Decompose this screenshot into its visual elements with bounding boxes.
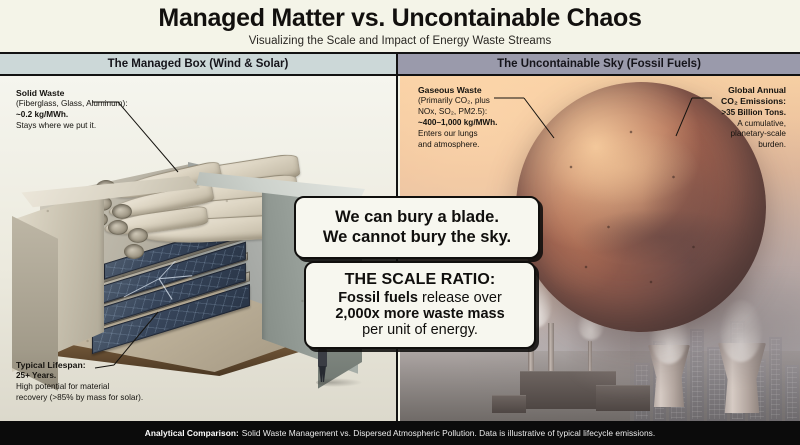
quote-line-2: We cannot bury the sky. [306, 227, 528, 247]
header-right-uncontainable-sky: The Uncontainable Sky (Fossil Fuels) [398, 54, 800, 74]
annotation-gaseous-waste: Gaseous Waste (Primarily CO₂, plus NOx, … [418, 85, 578, 150]
figure-legs [319, 366, 326, 382]
ratio-line-2-bold: Fossil fuels [338, 290, 418, 306]
callout-quote: We can bury a blade. We cannot bury the … [294, 196, 540, 259]
ratio-title: THE SCALE RATIO: [316, 271, 524, 289]
footer-text: Solid Waste Management vs. Dispersed Atm… [242, 428, 655, 438]
header-left-managed-box: The Managed Box (Wind & Solar) [0, 54, 398, 74]
footer-bar: Analytical Comparison: Solid Waste Manag… [0, 421, 800, 445]
ratio-line-2-rest: release over [418, 290, 502, 306]
page-title: Managed Matter vs. Uncontainable Chaos [0, 5, 800, 31]
annotation-solid-waste: Solid Waste (Fiberglass, Glass, Aluminum… [16, 88, 166, 132]
panel-header-row: The Managed Box (Wind & Solar) The Uncon… [0, 52, 800, 76]
power-plant-building [492, 395, 526, 413]
ratio-line-3: 2,000x more waste mass [316, 306, 524, 322]
title-block: Managed Matter vs. Uncontainable Chaos V… [0, 0, 800, 52]
annotation-typical-lifespan: Typical Lifespan: 25+ Years. High potent… [16, 360, 196, 404]
ratio-line-2: Fossil fuels release over [316, 290, 524, 306]
infographic-poster: Managed Matter vs. Uncontainable Chaos V… [0, 0, 800, 445]
annotation-global-emissions: Global Annual CO₂ Emissions: >35 Billion… [630, 85, 786, 151]
callout-scale-ratio: THE SCALE RATIO: Fossil fuels release ov… [304, 261, 536, 349]
ratio-line-4: per unit of energy. [316, 322, 524, 338]
quote-line-1: We can bury a blade. [306, 207, 528, 227]
scale-figure-person [316, 344, 329, 382]
page-subtitle: Visualizing the Scale and Impact of Ener… [0, 35, 800, 47]
footer-label: Analytical Comparison: [145, 428, 239, 438]
figure-body [318, 348, 327, 367]
